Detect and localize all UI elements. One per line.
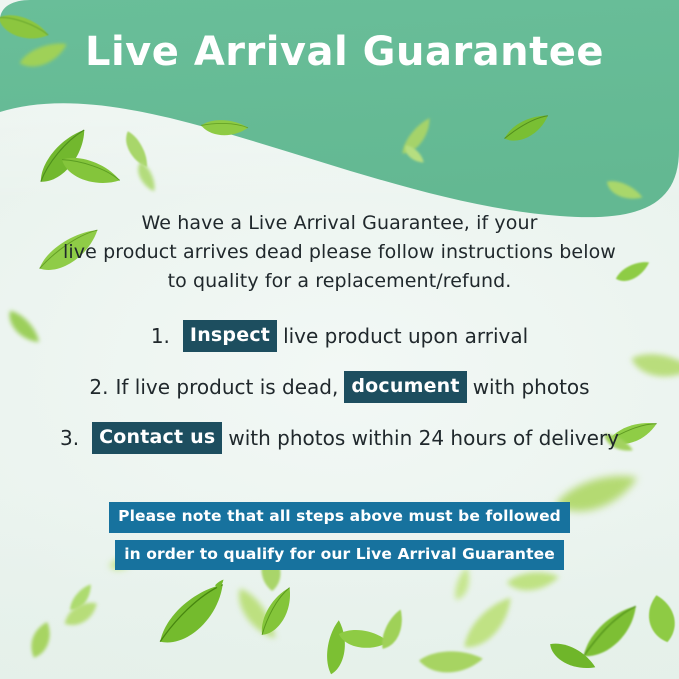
page-title: Live Arrival Guarantee — [0, 30, 679, 74]
intro-paragraph: We have a Live Arrival Guarantee, if you… — [50, 209, 629, 296]
step-item: 2. If live product is dead, document wit… — [30, 371, 649, 403]
intro-line-2: live product arrives dead please follow … — [50, 238, 629, 267]
note-box: Please note that all steps above must be… — [0, 502, 679, 577]
step-number: 3. — [60, 423, 79, 453]
live-arrival-guarantee-poster: Live Arrival Guarantee We have a Live Ar… — [0, 0, 679, 679]
step-badge-inspect[interactable]: Inspect — [183, 320, 277, 352]
intro-line-3: to quality for a replacement/refund. — [50, 267, 629, 296]
step-badge-contact-us[interactable]: Contact us — [92, 422, 222, 454]
note-line-1: Please note that all steps above must be… — [109, 502, 570, 533]
step-text-before: If live product is dead, — [116, 372, 339, 402]
step-item: 1. Inspect live product upon arrival — [30, 320, 649, 352]
intro-line-1: We have a Live Arrival Guarantee, if you… — [50, 209, 629, 238]
step-number: 2. — [89, 372, 108, 402]
step-text-after: with photos — [473, 372, 590, 402]
step-item: 3. Contact us with photos within 24 hour… — [30, 422, 649, 454]
step-text-after: live product upon arrival — [283, 321, 528, 351]
step-number: 1. — [151, 321, 170, 351]
step-text-after: with photos within 24 hours of delivery — [228, 423, 619, 453]
steps-list: 1. Inspect live product upon arrival 2. … — [30, 320, 649, 473]
note-line-2: in order to qualify for our Live Arrival… — [115, 540, 564, 571]
step-badge-document[interactable]: document — [344, 371, 466, 403]
